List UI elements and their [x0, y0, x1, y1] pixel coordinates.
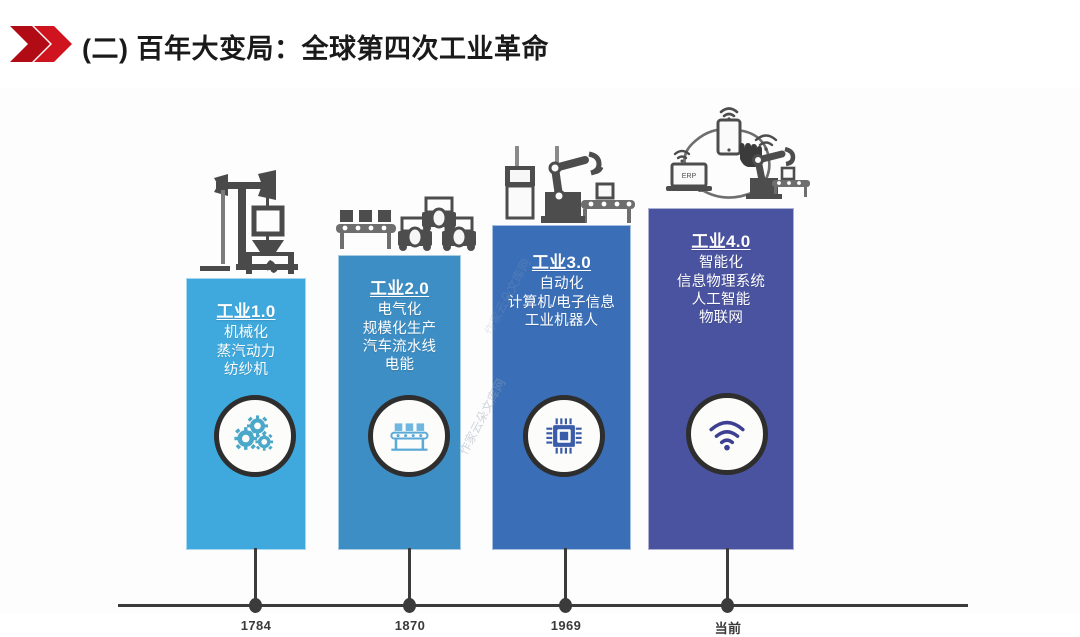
bar-line-4-0: 智能化 [649, 254, 793, 272]
bar-line-2-3: 电能 [339, 356, 460, 374]
bar-line-4-3: 物联网 [649, 309, 793, 327]
timeline-axis [118, 604, 968, 607]
bar-industry-3[interactable]: 工业3.0 自动化 计算机/电子信息 工业机器人 [492, 225, 631, 550]
bar-line-3-0: 自动化 [493, 275, 630, 293]
wifi-icon [705, 412, 749, 456]
bar-line-3-2: 工业机器人 [493, 312, 630, 330]
timeline-dot-3 [559, 598, 572, 613]
bar-line-2-1: 规模化生产 [339, 320, 460, 338]
microchip-icon [543, 415, 585, 457]
timeline-label-3: 1969 [526, 618, 606, 633]
badge-industry-3[interactable] [523, 395, 605, 477]
bar-line-4-2: 人工智能 [649, 291, 793, 309]
bar-line-1-0: 机械化 [187, 324, 305, 342]
timeline-dot-4 [721, 598, 734, 613]
gears-icon [234, 415, 276, 457]
bar-line-1-1: 蒸汽动力 [187, 343, 305, 361]
bar-line-2-2: 汽车流水线 [339, 338, 460, 356]
assembly-line-icon [336, 196, 478, 258]
bar-line-2-0: 电气化 [339, 301, 460, 319]
bar-line-4-1: 信息物理系统 [649, 273, 793, 291]
page-header: (二) 百年大变局：全球第四次工业革命 [0, 0, 1080, 88]
page-title: (二) 百年大变局：全球第四次工业革命 [82, 27, 549, 66]
timeline-label-2: 1870 [370, 618, 450, 633]
iot-network-icon: ERP [658, 102, 810, 212]
svg-text:ERP: ERP [682, 173, 697, 180]
bar-title-4: 工业4.0 [649, 231, 793, 252]
bar-industry-4[interactable]: 工业4.0 智能化 信息物理系统 人工智能 物联网 [648, 208, 794, 550]
steam-engine-icon [196, 160, 304, 278]
double-chevron-icon [10, 24, 72, 64]
timeline-label-4: 当前 [688, 618, 768, 637]
bar-line-1-2: 纺纱机 [187, 361, 305, 379]
bar-title-3: 工业3.0 [493, 252, 630, 273]
timeline-label-1: 1784 [216, 618, 296, 633]
timeline-dot-1 [249, 598, 262, 613]
bar-line-3-1: 计算机/电子信息 [493, 294, 630, 312]
bar-title-1: 工业1.0 [187, 301, 305, 322]
timeline-dot-2 [403, 598, 416, 613]
robot-arm-icon [497, 146, 637, 228]
badge-industry-2[interactable] [368, 395, 450, 477]
badge-industry-1[interactable] [214, 395, 296, 477]
conveyor-belt-icon [388, 415, 430, 457]
bar-title-2: 工业2.0 [339, 278, 460, 299]
industrial-revolution-chart: ERP [0, 88, 1080, 613]
badge-industry-4[interactable] [686, 393, 768, 475]
